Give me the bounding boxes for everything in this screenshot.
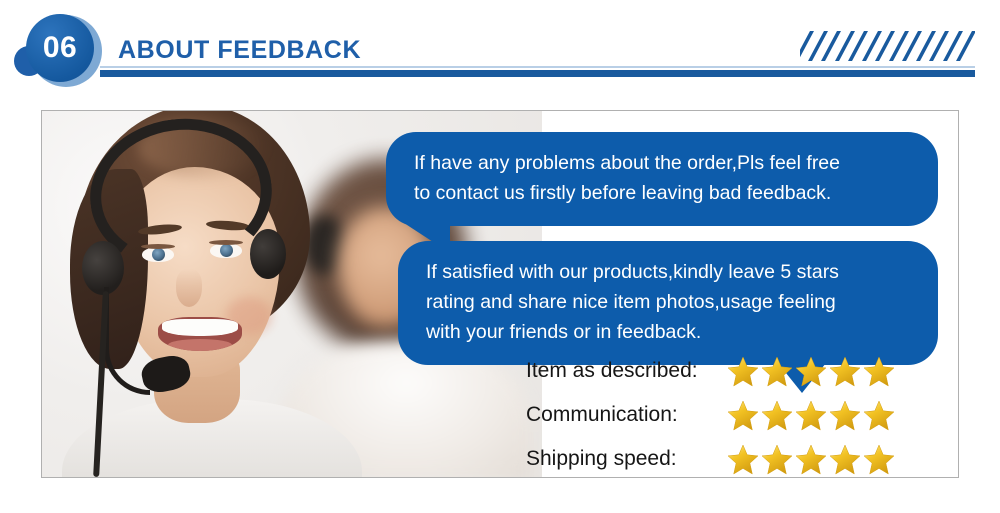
star-icon [761,399,793,431]
rating-row: Item as described: [526,349,946,393]
section-header: 06 ABOUT FEEDBACK [0,0,1000,96]
agent-smile [158,317,242,351]
star-icon [829,443,861,475]
star-icon [795,399,827,431]
rating-list: Item as described: Communication: Shippi… [526,349,946,478]
rating-label-item-as-described: Item as described: [526,359,721,383]
bubble-1-line-2: to contact us firstly before leaving bad… [414,178,912,208]
star-icon [795,443,827,475]
rating-label-shipping-speed: Shipping speed: [526,447,721,471]
bubble-2-line-1: If satisfied with our products,kindly le… [426,257,914,287]
speech-bubble-problems: If have any problems about the order,Pls… [386,132,938,226]
rating-label-communication: Communication: [526,403,721,427]
header-rule-light [100,66,975,68]
agent-nose [176,269,202,307]
agent-teeth [162,319,238,336]
star-icon [727,399,759,431]
star-icon [727,443,759,475]
star-icon [863,399,895,431]
star-icon [863,355,895,387]
bubble-2-line-2: rating and share nice item photos,usage … [426,287,914,317]
headset-earcup-right-icon [250,229,286,279]
speech-bubble-satisfied: If satisfied with our products,kindly le… [398,241,938,365]
rating-stars-communication [727,399,895,431]
bubble-1-line-1: If have any problems about the order,Pls… [414,148,912,178]
star-icon [863,443,895,475]
agent-lower-lip [168,339,232,351]
header-diagonal-stripes-icon [800,31,975,61]
star-icon [829,355,861,387]
rating-row: Communication: [526,393,946,437]
star-icon [727,355,759,387]
star-icon [795,355,827,387]
header-rule-bold [100,70,975,77]
section-number-badge: 06 [26,14,94,82]
star-icon [761,355,793,387]
rating-row: Shipping speed: [526,437,946,478]
rating-stars-item-as-described [727,355,895,387]
rating-stars-shipping-speed [727,443,895,475]
feedback-content-panel: If have any problems about the order,Pls… [41,110,959,478]
bubble-2-line-3: with your friends or in feedback. [426,317,914,347]
star-icon [761,443,793,475]
star-icon [829,399,861,431]
page-title: ABOUT FEEDBACK [118,36,361,65]
